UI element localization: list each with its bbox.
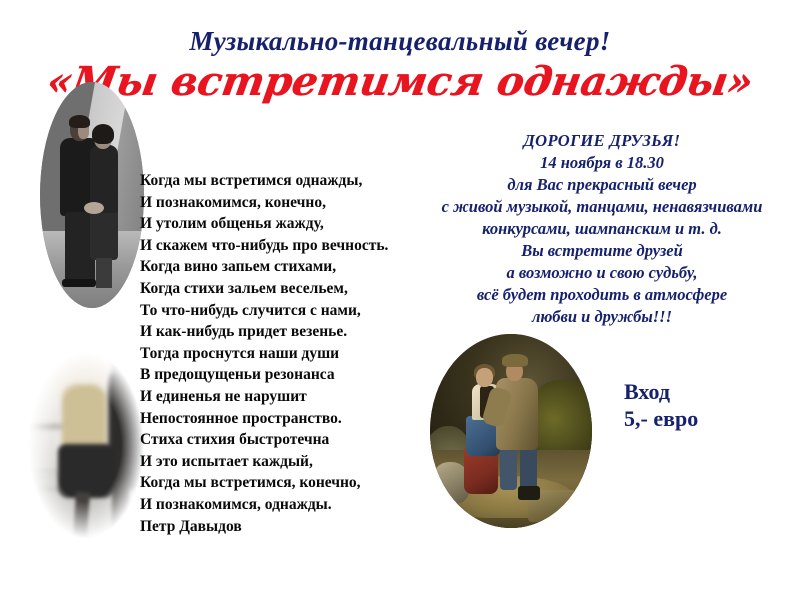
dancer-photo	[16, 332, 156, 558]
dancer-shoe	[72, 540, 94, 551]
poem-line: И утолим общенья жажду,	[140, 213, 440, 235]
invitation-line: для Вас прекрасный вечер	[404, 174, 800, 196]
invitation-line: конкурсами, шампанским и т. д.	[404, 218, 800, 240]
poem-line: Тогда проснутся наши души	[140, 343, 440, 365]
dance-partner-leg	[112, 482, 130, 544]
poster-title: Музыкально-танцевальный вечер!	[0, 26, 800, 57]
poem-author: Петр Давыдов	[140, 516, 440, 538]
painting-man-boot	[518, 486, 540, 500]
couple-photo	[40, 82, 144, 308]
poem-line: И познакомимся, конечно,	[140, 192, 440, 214]
dancer-skirt	[58, 444, 114, 498]
dance-partner-head	[112, 356, 132, 376]
invitation-greeting: ДОРОГИЕ ДРУЗЬЯ!	[404, 130, 800, 152]
painting-woman-head	[476, 368, 493, 387]
poem-line: И познакомимся, однажды.	[140, 494, 440, 516]
poem-line: Когда мы встретимся однажды,	[140, 170, 440, 192]
poem-line: Непостоянное пространство.	[140, 408, 440, 430]
invitation-datetime: 14 ноября в 18.30	[404, 152, 800, 174]
painting-man-hat	[502, 354, 528, 367]
invitation-block: ДОРОГИЕ ДРУЗЬЯ! 14 ноября в 18.30 для Ва…	[404, 130, 800, 328]
poem-line: И единенья не нарушит	[140, 386, 440, 408]
invitation-line: Вы встретите друзей	[404, 240, 800, 262]
poem-line: И как-нибудь придет везенье.	[140, 321, 440, 343]
poem-line: Стиха стихия быстротечна	[140, 429, 440, 451]
poem-line: Когда мы встретимся, конечно,	[140, 472, 440, 494]
entry-label: Вход	[624, 378, 698, 405]
poem-line: Когда стихи зальем весельем,	[140, 278, 440, 300]
poem-line: И это испытает каждый,	[140, 451, 440, 473]
woman-skirt	[90, 208, 118, 260]
joined-hands	[84, 202, 104, 214]
poem-line: То что-нибудь случится с нами,	[140, 300, 440, 322]
woman-legs	[96, 258, 112, 288]
invitation-line: а возможно и свою судьбу,	[404, 262, 800, 284]
poem-line: И скажем что-нибудь про вечность.	[140, 235, 440, 257]
painting-man-leg-left	[500, 444, 517, 490]
man-hair	[69, 115, 90, 128]
man-shoes	[62, 279, 96, 287]
woman-hair	[92, 124, 114, 144]
invitation-line: с живой музыкой, танцами, ненавязчивами	[404, 196, 800, 218]
entry-price-block: Вход 5,- евро	[624, 378, 698, 432]
poem-line: В предощущеньи резонанса	[140, 364, 440, 386]
entry-price: 5,- евро	[624, 405, 698, 432]
oval-painting	[430, 334, 592, 528]
event-poster: Музыкально-танцевальный вечер! «Мы встре…	[0, 0, 800, 600]
poem-line: Когда вино запьем стихами,	[140, 256, 440, 278]
poem-block: Когда мы встретимся однажды, И познакоми…	[140, 170, 440, 537]
invitation-line: любви и дружбы!!!	[404, 306, 800, 328]
invitation-line: всё будет проходить в атмосфере	[404, 284, 800, 306]
